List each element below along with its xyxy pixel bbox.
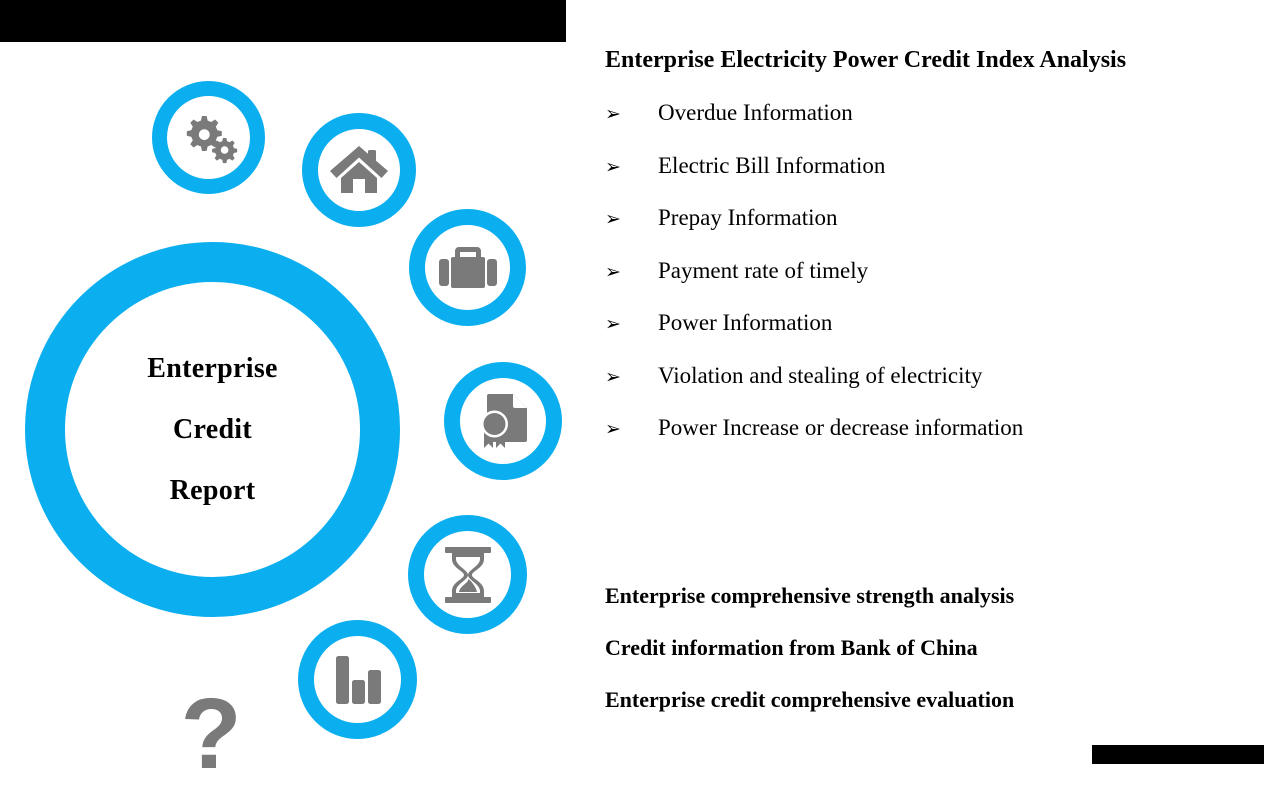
arrow-bullet-icon: ➢ xyxy=(605,307,658,341)
node-certificate[interactable] xyxy=(444,362,562,480)
list-item[interactable]: ➢ Electric Bill Information xyxy=(605,149,1264,202)
list-item[interactable]: ➢ Overdue Information xyxy=(605,96,1264,149)
arrow-bullet-icon: ➢ xyxy=(605,255,658,289)
node-house[interactable] xyxy=(302,113,416,227)
summary-line: Enterprise comprehensive strength analys… xyxy=(605,570,1264,622)
arrow-bullet-icon: ➢ xyxy=(605,412,658,446)
node-hourglass[interactable] xyxy=(408,515,527,634)
list-item-label: Overdue Information xyxy=(658,96,853,130)
list-item-label: Power Information xyxy=(658,306,832,340)
arrow-bullet-icon: ➢ xyxy=(605,202,658,236)
page-title: Enterprise Electricity Power Credit Inde… xyxy=(605,45,1126,75)
central-label-line-2: Credit xyxy=(173,416,252,444)
list-item[interactable]: ➢ Power Information xyxy=(605,306,1264,359)
node-gears[interactable] xyxy=(152,81,265,194)
node-briefcase[interactable] xyxy=(409,209,526,326)
content-column: Enterprise Electricity Power Credit Inde… xyxy=(605,0,1264,764)
summary-lines: Enterprise comprehensive strength analys… xyxy=(605,570,1264,726)
central-label-line-3: Report xyxy=(170,477,256,505)
house-icon xyxy=(329,144,389,196)
list-item[interactable]: ➢ Payment rate of timely xyxy=(605,254,1264,307)
briefcase-icon xyxy=(438,243,498,293)
list-item-label: Violation and stealing of electricity xyxy=(658,359,982,393)
summary-line: Credit information from Bank of China xyxy=(605,622,1264,674)
summary-line: Enterprise credit comprehensive evaluati… xyxy=(605,674,1264,726)
central-label-line-1: Enterprise xyxy=(147,355,278,383)
list-item[interactable]: ➢ Prepay Information xyxy=(605,201,1264,254)
list-item[interactable]: ➢ Power Increase or decrease information xyxy=(605,411,1264,464)
bullet-list: ➢ Overdue Information ➢ Electric Bill In… xyxy=(605,96,1264,464)
top-black-bar xyxy=(0,0,566,42)
list-item-label: Electric Bill Information xyxy=(658,149,885,183)
list-item[interactable]: ➢ Violation and stealing of electricity xyxy=(605,359,1264,412)
credit-report-diagram: Enterprise Credit Report xyxy=(0,42,566,764)
central-ring-label: Enterprise Credit Report xyxy=(25,242,400,617)
list-item-label: Payment rate of timely xyxy=(658,254,868,288)
bar-chart-icon xyxy=(332,654,384,706)
list-item-label: Power Increase or decrease information xyxy=(658,411,1023,445)
arrow-bullet-icon: ➢ xyxy=(605,360,658,394)
slide-canvas: Enterprise Credit Report xyxy=(0,0,1264,764)
gears-icon xyxy=(178,112,240,164)
arrow-bullet-icon: ➢ xyxy=(605,97,658,131)
question-mark-icon: ? xyxy=(176,684,246,784)
certificate-icon xyxy=(475,392,531,450)
hourglass-icon xyxy=(443,546,493,604)
list-item-label: Prepay Information xyxy=(658,201,837,235)
node-bar-chart[interactable] xyxy=(298,620,417,739)
arrow-bullet-icon: ➢ xyxy=(605,150,658,184)
